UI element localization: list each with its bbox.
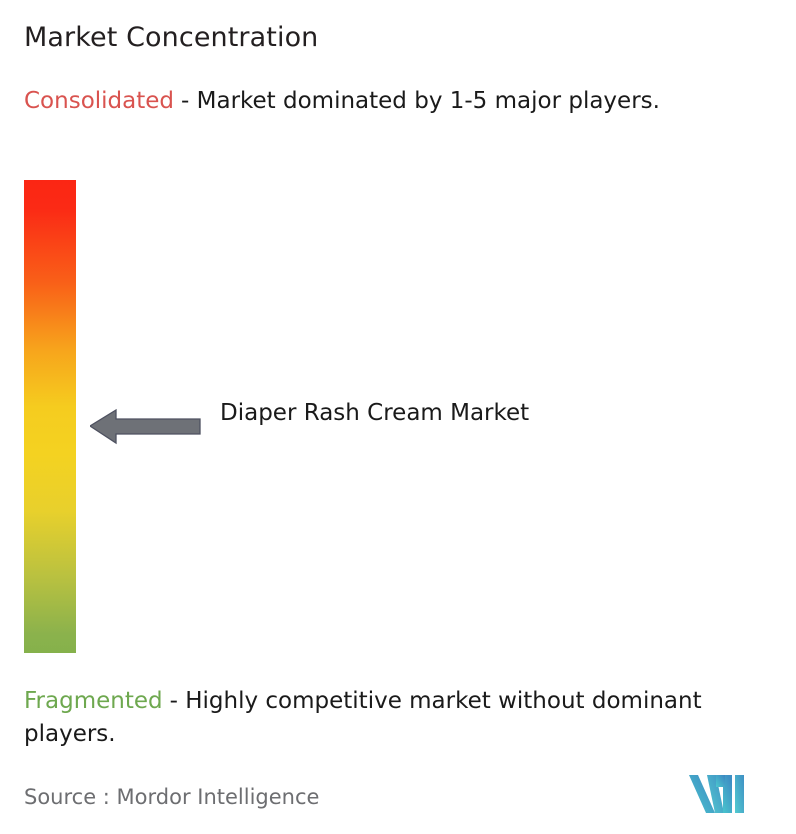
- source-attribution: Source : Mordor Intelligence: [24, 782, 319, 812]
- logo-glyph: [689, 773, 753, 815]
- legend-fragmented-keyword: Fragmented: [24, 688, 163, 714]
- market-concentration-figure: Market Concentration Consolidated- Marke…: [0, 0, 796, 834]
- legend-consolidated-keyword: Consolidated: [24, 88, 174, 114]
- legend-consolidated: Consolidated- Market dominated by 1-5 ma…: [24, 85, 772, 118]
- marker-label: Diaper Rash Cream Market: [220, 396, 529, 431]
- page-title: Market Concentration: [24, 20, 318, 56]
- mordor-intelligence-logo-icon: [689, 773, 753, 815]
- concentration-gradient-scale: [24, 180, 76, 653]
- market-marker: Diaper Rash Cream Market: [90, 396, 529, 452]
- legend-fragmented: Fragmented- Highly competitive market wi…: [24, 685, 784, 751]
- marker-arrow: [90, 396, 202, 452]
- legend-consolidated-description: - Market dominated by 1-5 major players.: [181, 88, 660, 114]
- figure-footer: Source : Mordor Intelligence: [0, 770, 796, 834]
- left-arrow-icon: [90, 396, 202, 452]
